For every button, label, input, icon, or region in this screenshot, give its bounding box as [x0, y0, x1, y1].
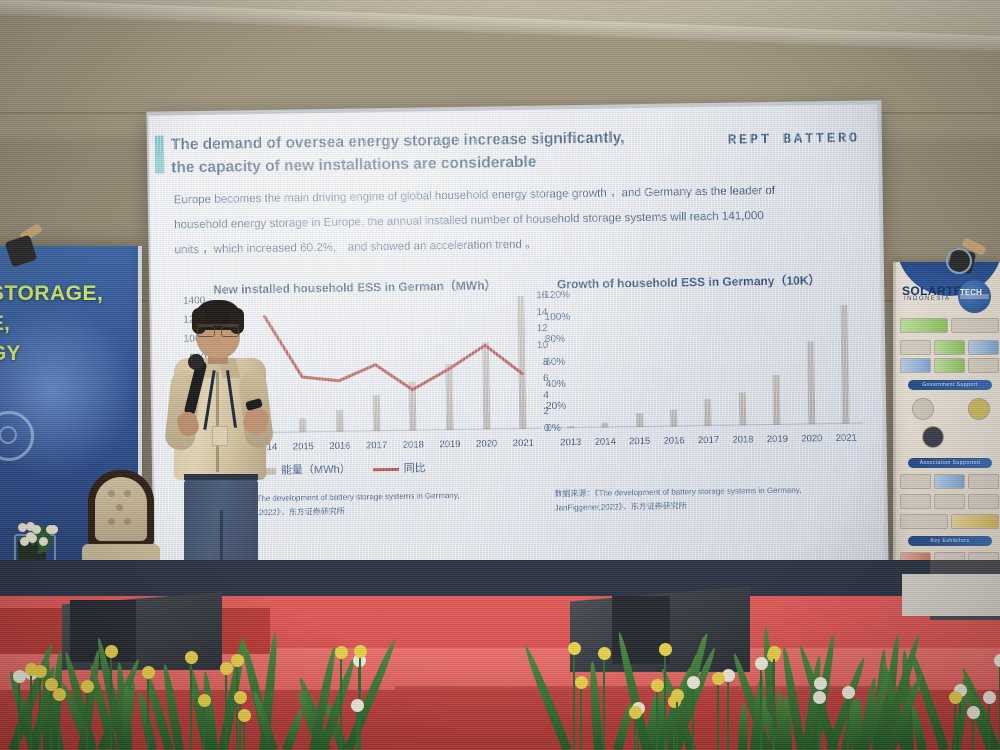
foliage-flower: [220, 662, 233, 675]
chart-household-ess-growth: 201320142015201620172018201920202021 024…: [551, 291, 863, 451]
chair-tuft: [108, 518, 115, 525]
foliage-stem: [110, 654, 112, 750]
rept-battero-logo: REPT BATTERO: [728, 131, 860, 149]
foliage-stem: [239, 700, 241, 750]
banner-left-line1: STORAGE,: [0, 282, 103, 306]
x-tick-label: 2016: [657, 435, 692, 447]
sponsor-chip: [951, 514, 999, 529]
foreground-flowers-left: [0, 620, 360, 750]
x-tick-label: 2014: [588, 436, 623, 448]
bar-column: [586, 294, 623, 428]
chair-tuft: [108, 490, 115, 497]
sponsor-chip: [900, 340, 931, 355]
sponsor-chip: [968, 494, 999, 509]
legend-line-label: 同比: [404, 462, 426, 474]
foliage-stem: [340, 655, 342, 750]
foliage-stem: [39, 674, 41, 750]
section-label: Association Supported: [908, 458, 992, 468]
banner-section-exhibitors: Key Exhibitors: [908, 536, 992, 546]
foliage-stem: [634, 715, 636, 750]
foliage-flower: [185, 651, 198, 664]
foliage-stem: [356, 708, 358, 750]
foliage-stem: [243, 718, 245, 750]
foliage-stem: [236, 663, 238, 750]
x-tick-label: 2019: [432, 439, 469, 451]
microphone-head-icon: [188, 354, 204, 370]
trend-polyline: [265, 313, 523, 392]
foliage-flower: [142, 666, 155, 679]
y-tick-label: 0: [544, 423, 550, 434]
foliage-stem: [676, 698, 678, 750]
x-tick-label: 2015: [622, 436, 657, 448]
sponsor-seal-icon: [922, 426, 944, 448]
foliage-stem: [50, 687, 52, 750]
x-tick-label: 2020: [468, 438, 505, 450]
legend-line-swatch: [373, 467, 399, 470]
foliage-flower: [712, 672, 725, 685]
foliage-stem: [847, 695, 849, 750]
chair-tuft: [116, 504, 123, 511]
slide-title: The demand of oversea energy storage inc…: [171, 125, 692, 179]
bar-column: [551, 295, 588, 429]
sponsor-chip: [900, 474, 931, 489]
foliage-stem: [818, 700, 820, 750]
foliage-flower: [994, 654, 1000, 667]
y-tick-label: 12: [537, 323, 548, 334]
foreground-flowers-right: [560, 610, 1000, 750]
sponsor-chip: [900, 318, 948, 333]
foliage-stem: [692, 685, 694, 750]
foliage-stem: [760, 666, 762, 750]
section-label: Key Exhibitors: [908, 536, 992, 546]
bar: [670, 409, 677, 427]
sponsor-seal-icon: [968, 398, 990, 420]
sponsor-chip: [900, 514, 948, 529]
foliage-stem: [190, 660, 192, 750]
foliage-stem: [988, 700, 990, 750]
legend-bar-label: 能量（MWh）: [281, 464, 351, 477]
foliage-stem: [147, 675, 149, 750]
bar-column: [792, 291, 829, 425]
foliage-flower: [659, 643, 672, 656]
chair-tuft: [124, 518, 131, 525]
foliage-flower: [949, 691, 962, 704]
tech-wordmark: TECH: [960, 288, 982, 297]
presenter-shirt-placket: [216, 372, 219, 472]
foliage-flower: [238, 709, 251, 722]
foliage-stem: [580, 685, 582, 750]
foliage-stem: [727, 678, 729, 750]
foliage-flower: [755, 657, 768, 670]
x-tick-label: 2017: [691, 435, 726, 447]
sponsor-chip: [900, 494, 931, 509]
x-tick-label: 2015: [285, 441, 322, 453]
x-tick-label: 2013: [554, 437, 589, 449]
foliage-stem: [203, 703, 205, 750]
foliage-stem: [58, 697, 60, 750]
y-tick-label: 8: [543, 357, 549, 368]
title-accent-bar-secondary: [155, 156, 164, 174]
foliage-flower: [105, 645, 118, 658]
y-tick-label: 4: [543, 390, 549, 401]
foliage-stem: [603, 656, 605, 750]
slide-body-text: Europe becomes the main driving engine o…: [174, 177, 865, 263]
bar: [739, 392, 747, 425]
foliage-flower: [671, 689, 684, 702]
sponsor-chip: [934, 358, 965, 373]
source-right-line2: JanFiggener,2022》，东方证券研究所: [555, 497, 825, 515]
x-tick-label: 2017: [358, 440, 395, 452]
banner-left-line2: E,: [0, 312, 10, 336]
sponsor-chip: [934, 494, 965, 509]
chart-title-right: Growth of household ESS in Germany（10K）: [557, 271, 821, 292]
foliage-leaf: [588, 661, 603, 750]
bar: [704, 399, 711, 427]
foliage-flower: [687, 676, 700, 689]
chart-right-plot: [551, 291, 863, 429]
sponsor-chip: [968, 474, 999, 489]
foliage-stem: [18, 679, 20, 750]
chart-title-left: New installed household ESS in German（MW…: [213, 276, 497, 297]
bar-column: [723, 292, 760, 426]
x-tick-label: 2021: [829, 433, 864, 445]
foliage-stem: [573, 651, 575, 750]
bar: [773, 375, 781, 425]
foliage-flower: [983, 691, 996, 704]
y-tick-label: 10: [537, 340, 548, 351]
foliage-flower: [598, 647, 611, 660]
foliage-stem: [972, 715, 974, 750]
x-tick-label: 2016: [322, 440, 359, 452]
foliage-flower: [231, 654, 244, 667]
chair-tuft: [124, 490, 131, 497]
y-tick-label: 2: [543, 406, 549, 417]
foliage-flower: [967, 706, 980, 719]
sponsor-chip: [934, 340, 965, 355]
presenter-belt: [184, 474, 258, 480]
chart-right-bars: [551, 291, 863, 429]
sponsor-chip: [934, 474, 965, 489]
sponsor-chip: [900, 358, 931, 373]
section-label: Government Support: [908, 380, 992, 390]
x-tick-label: 2020: [795, 433, 830, 445]
foliage-flower: [234, 691, 247, 704]
foliage-stem: [717, 681, 719, 750]
bar-column: [689, 293, 726, 427]
spotlight-ring-icon: [946, 248, 972, 274]
foliage-flower: [45, 678, 58, 691]
foliage-flower: [335, 646, 348, 659]
foliage-flower: [814, 677, 827, 690]
foliage-flower: [13, 670, 26, 683]
foliage-flower: [575, 676, 588, 689]
foliage-flower: [768, 646, 781, 659]
sponsor-seal-icon: [912, 398, 934, 420]
foliage-flower: [81, 680, 94, 693]
right-sponsor-banner: SOLARTECH INDONESIA TECH Government Supp…: [893, 262, 1000, 610]
foliage-flower: [34, 665, 47, 678]
bar: [636, 413, 643, 427]
y-tick-label: 14: [536, 307, 547, 318]
source-note-right: 数据来源：《The development of battery storage…: [554, 483, 824, 515]
vase-flower: [39, 537, 48, 546]
sponsor-chip: [968, 358, 999, 373]
conference-stage-photo: STORAGE, E, GY SOLARTECH INDONESIA TECH …: [0, 0, 1000, 750]
foliage-flower: [354, 645, 367, 658]
x-tick-label: 2018: [726, 434, 761, 446]
banner-section-association: Association Supported: [908, 458, 992, 468]
bar-column: [758, 292, 795, 426]
foliage-flower: [568, 642, 581, 655]
foliage-stem: [773, 655, 775, 750]
y-tick-label: 16: [536, 290, 547, 301]
y-tick-label: 6: [543, 373, 549, 384]
foliage-stem: [656, 688, 658, 750]
foliage-stem: [30, 672, 32, 750]
bar: [807, 341, 815, 424]
x-tick-label: 2019: [760, 434, 795, 446]
solartech-subtitle: INDONESIA: [904, 296, 951, 302]
foliage-stem: [954, 700, 956, 750]
banner-left-line3: GY: [0, 342, 20, 366]
x-tick-label: 2018: [395, 439, 432, 451]
sponsor-chip: [968, 340, 999, 355]
bar-column: [655, 293, 692, 427]
bar-column: [827, 291, 864, 425]
glasses-icon: [197, 324, 239, 336]
sponsor-chip: [951, 318, 999, 333]
foliage-stem: [664, 652, 666, 750]
foliage-stem: [225, 671, 227, 750]
x-tick-label: 2021: [505, 438, 542, 450]
chart-right-x-labels: 201320142015201620172018201920202021: [554, 433, 864, 449]
legend-item-yoy: 同比: [373, 459, 426, 476]
foliage-stem: [86, 689, 88, 750]
presenter-badge: [212, 426, 228, 446]
bar-column: [620, 294, 657, 428]
foliage-leaf: [738, 704, 748, 750]
banner-section-government: Government Support: [908, 380, 992, 390]
bar: [841, 305, 850, 424]
foliage-flower: [351, 699, 364, 712]
